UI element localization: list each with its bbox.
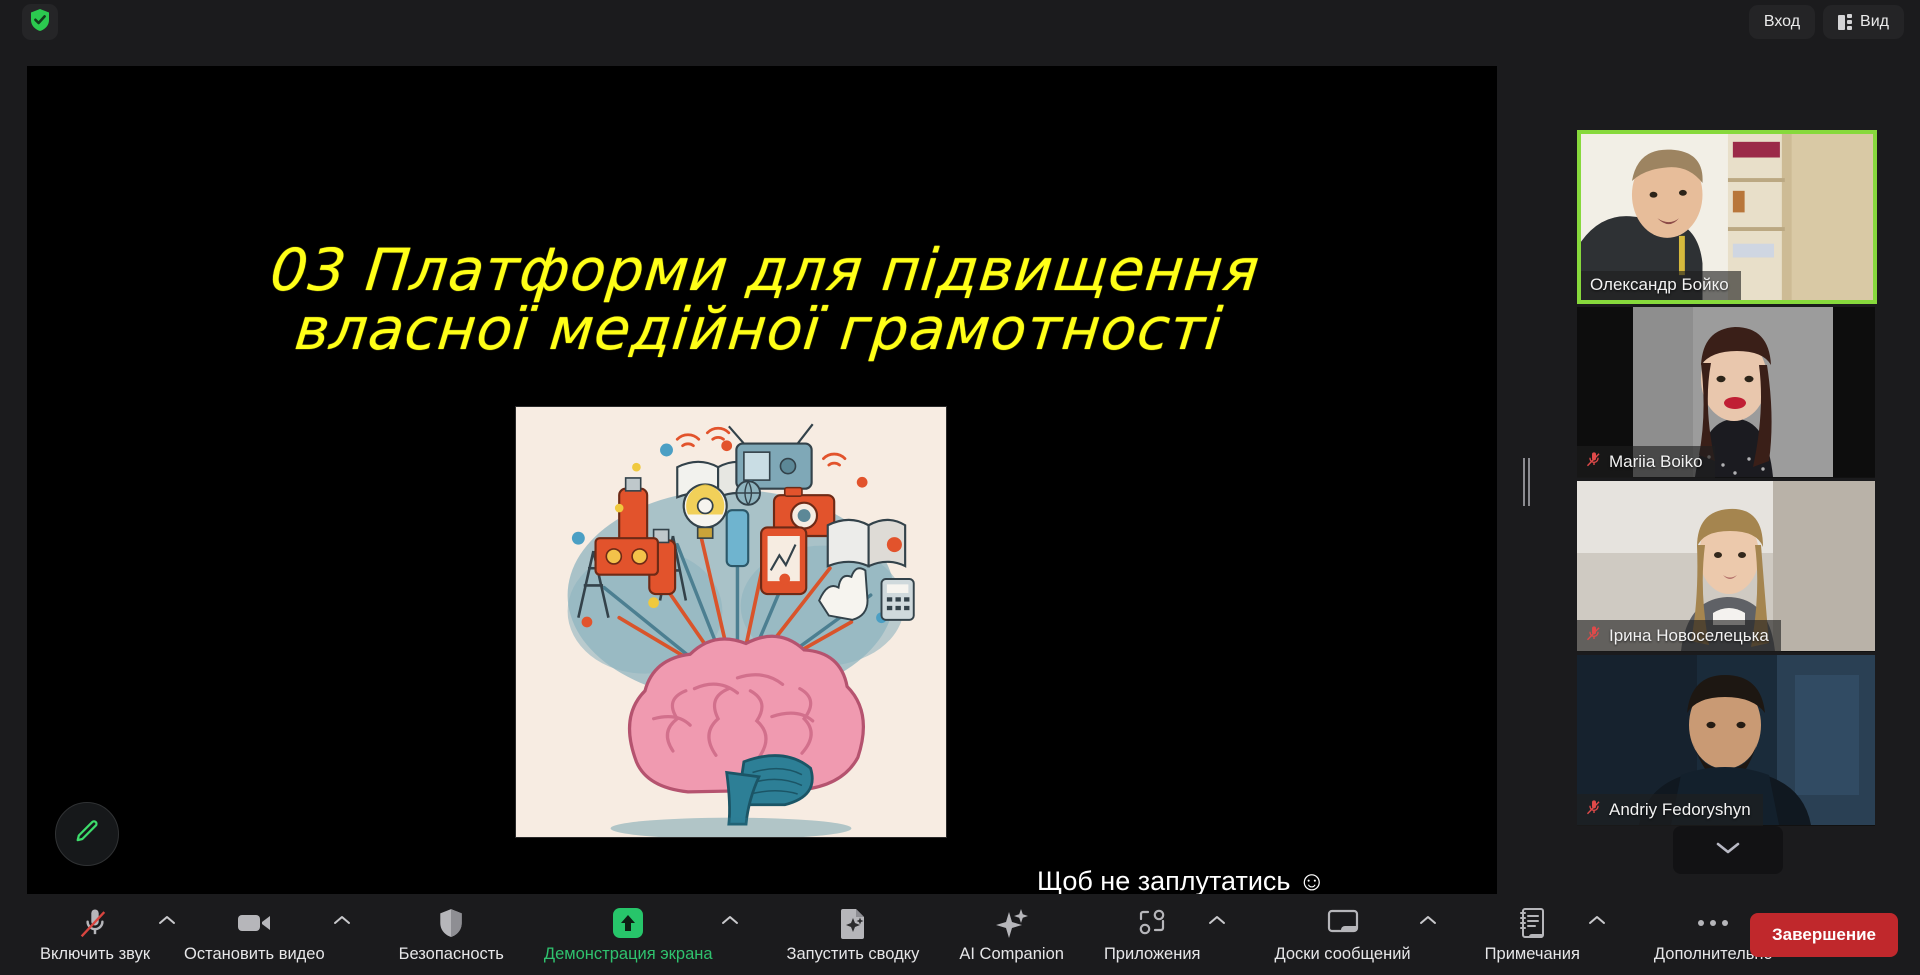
- layout-view-icon: [1838, 14, 1852, 30]
- slide-image: [515, 406, 947, 838]
- meeting-toolbar: Включить звук Остановить видео Безопасно…: [0, 894, 1920, 975]
- participant-tile[interactable]: Олександр Бойко: [1577, 130, 1877, 304]
- login-label: Вход: [1764, 13, 1800, 31]
- chevron-up-icon: [1208, 914, 1226, 926]
- participant-name-bar: Олександр Бойко: [1581, 271, 1741, 300]
- chevron-up-icon: [333, 914, 351, 926]
- end-meeting-button[interactable]: Завершение: [1750, 913, 1898, 957]
- audio-options-caret[interactable]: [150, 894, 184, 975]
- toolbar-button-stop-video[interactable]: Остановить видео: [184, 894, 325, 975]
- apps-options-caret[interactable]: [1200, 894, 1234, 975]
- toolbar-label: AI Companion: [959, 945, 1064, 964]
- participant-name: Andriy Fedoryshyn: [1609, 800, 1751, 820]
- toolbar-button-whiteboards[interactable]: Доски сообщений: [1274, 894, 1410, 975]
- microphone-muted-icon: [80, 905, 110, 941]
- toolbar-label: Примечания: [1485, 945, 1580, 964]
- slide-title: 03 Платформи для підвищення власної меді…: [27, 241, 1497, 359]
- chevron-up-icon: [1419, 914, 1437, 926]
- participant-name-bar: Mariia Boiko: [1577, 446, 1715, 478]
- toolbar-label: Доски сообщений: [1274, 945, 1410, 964]
- toolbar-label: Приложения: [1104, 945, 1201, 964]
- toolbar-button-unmute[interactable]: Включить звук: [40, 894, 150, 975]
- toolbar-button-apps[interactable]: Приложения: [1104, 894, 1201, 975]
- participant-name-bar: Andriy Fedoryshyn: [1577, 794, 1763, 826]
- top-bar-actions: Вход Вид: [1749, 5, 1904, 39]
- microphone-muted-icon: [1586, 624, 1602, 647]
- toolbar-button-ai-companion[interactable]: AI Companion: [959, 894, 1064, 975]
- whiteboards-options-caret[interactable]: [1411, 894, 1445, 975]
- share-screen-icon: [611, 905, 645, 941]
- participant-name-bar: Ірина Новоселецька: [1577, 620, 1781, 652]
- microphone-muted-icon: [1586, 450, 1602, 473]
- slide-title-line-1: 03 Платформи для підвищення: [167, 241, 1363, 300]
- toolbar-button-share-screen[interactable]: Демонстрация экрана: [544, 894, 713, 975]
- toolbar-label: Включить звук: [40, 945, 150, 964]
- participant-name: Олександр Бойко: [1590, 275, 1729, 295]
- pencil-icon: [73, 818, 101, 851]
- summary-doc-icon: [840, 905, 866, 941]
- chevron-up-icon: [721, 914, 739, 926]
- brain-media-illustration: [516, 407, 946, 837]
- participant-tile[interactable]: Andriy Fedoryshyn: [1577, 655, 1875, 826]
- participant-name: Mariia Boiko: [1609, 452, 1703, 472]
- view-button[interactable]: Вид: [1823, 5, 1904, 39]
- toolbar-label: Безопасность: [399, 945, 504, 964]
- security-status-button[interactable]: [22, 4, 58, 40]
- slide-caption: Щоб не заплутатись ☺: [1037, 866, 1326, 894]
- shield-check-icon: [29, 8, 51, 37]
- camera-icon: [237, 905, 271, 941]
- participant-tile[interactable]: Mariia Boiko: [1577, 307, 1875, 478]
- apps-icon: [1137, 905, 1167, 941]
- sparkle-icon: [996, 905, 1028, 941]
- share-options-caret[interactable]: [713, 894, 747, 975]
- participant-thumbnail-strip: Олександр Бойко: [1577, 130, 1877, 870]
- participant-name: Ірина Новоселецька: [1609, 626, 1769, 646]
- slide-title-line-2: власної медійної грамотності: [161, 300, 1357, 359]
- view-label: Вид: [1860, 13, 1889, 31]
- whiteboard-icon: [1327, 905, 1359, 941]
- more-dots-icon: [1696, 905, 1730, 941]
- microphone-muted-icon: [1586, 798, 1602, 821]
- shared-screen-content[interactable]: 03 Платформи для підвищення власної меді…: [27, 66, 1497, 894]
- top-bar: Вход Вид: [0, 0, 1920, 44]
- shield-icon: [438, 905, 464, 941]
- participant-tile[interactable]: Ірина Новоселецька: [1577, 481, 1875, 652]
- chevron-down-icon: [1715, 840, 1741, 861]
- chevron-up-icon: [158, 914, 176, 926]
- toolbar-label: Остановить видео: [184, 945, 325, 964]
- toolbar-label: Демонстрация экрана: [544, 945, 713, 964]
- scroll-down-button[interactable]: [1673, 826, 1783, 874]
- toolbar-button-summary[interactable]: Запустить сводку: [787, 894, 920, 975]
- chevron-up-icon: [1588, 914, 1606, 926]
- annotate-button[interactable]: [55, 802, 119, 866]
- toolbar-button-security[interactable]: Безопасность: [399, 894, 504, 975]
- toolbar-button-notes[interactable]: Примечания: [1485, 894, 1580, 975]
- login-button[interactable]: Вход: [1749, 5, 1815, 39]
- notes-icon: [1519, 905, 1545, 941]
- video-options-caret[interactable]: [325, 894, 359, 975]
- notes-options-caret[interactable]: [1580, 894, 1614, 975]
- drag-handle-icon[interactable]: [1521, 458, 1531, 506]
- toolbar-label: Запустить сводку: [787, 945, 920, 964]
